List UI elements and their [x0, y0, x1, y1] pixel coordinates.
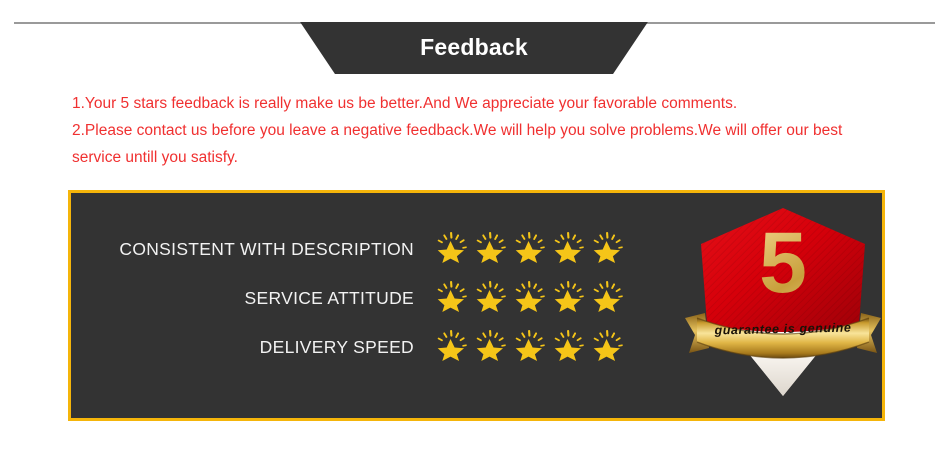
sparkle-star-icon: [514, 330, 546, 366]
sparkle-star-icon: [475, 281, 507, 317]
sparkle-star-icon: [553, 281, 585, 317]
sparkle-star-icon: [553, 232, 585, 268]
guarantee-shield-badge: 5 guarantee is genuine: [683, 200, 883, 410]
rating-row: DELIVERY SPEED: [71, 323, 691, 372]
sparkle-star-icon: [436, 232, 468, 268]
notice-line-1: 1.Your 5 stars feedback is really make u…: [72, 90, 892, 117]
rating-row: CONSISTENT WITH DESCRIPTION: [71, 225, 691, 274]
sparkle-star-icon: [592, 281, 624, 317]
sparkle-star-icon: [592, 232, 624, 268]
rating-row: SERVICE ATTITUDE: [71, 274, 691, 323]
rating-stars-service-attitude[interactable]: [436, 281, 624, 317]
sparkle-star-icon: [436, 281, 468, 317]
shield-graphic: [683, 200, 883, 410]
rating-label-consistent-with-description: CONSISTENT WITH DESCRIPTION: [71, 239, 436, 260]
sparkle-star-icon: [514, 232, 546, 268]
rating-label-service-attitude: SERVICE ATTITUDE: [71, 288, 436, 309]
rating-list: CONSISTENT WITH DESCRIPTION SERVICE ATTI…: [71, 225, 691, 372]
sparkle-star-icon: [514, 281, 546, 317]
rating-label-delivery-speed: DELIVERY SPEED: [71, 337, 436, 358]
rating-stars-delivery-speed[interactable]: [436, 330, 624, 366]
rating-stars-consistent-with-description[interactable]: [436, 232, 624, 268]
feedback-notice: 1.Your 5 stars feedback is really make u…: [72, 90, 892, 171]
sparkle-star-icon: [475, 330, 507, 366]
notice-line-2: 2.Please contact us before you leave a n…: [72, 117, 892, 171]
sparkle-star-icon: [475, 232, 507, 268]
feedback-banner: Feedback: [298, 22, 650, 74]
rating-panel: CONSISTENT WITH DESCRIPTION SERVICE ATTI…: [68, 190, 885, 421]
sparkle-star-icon: [436, 330, 468, 366]
sparkle-star-icon: [553, 330, 585, 366]
sparkle-star-icon: [592, 330, 624, 366]
page-title: Feedback: [298, 22, 650, 74]
